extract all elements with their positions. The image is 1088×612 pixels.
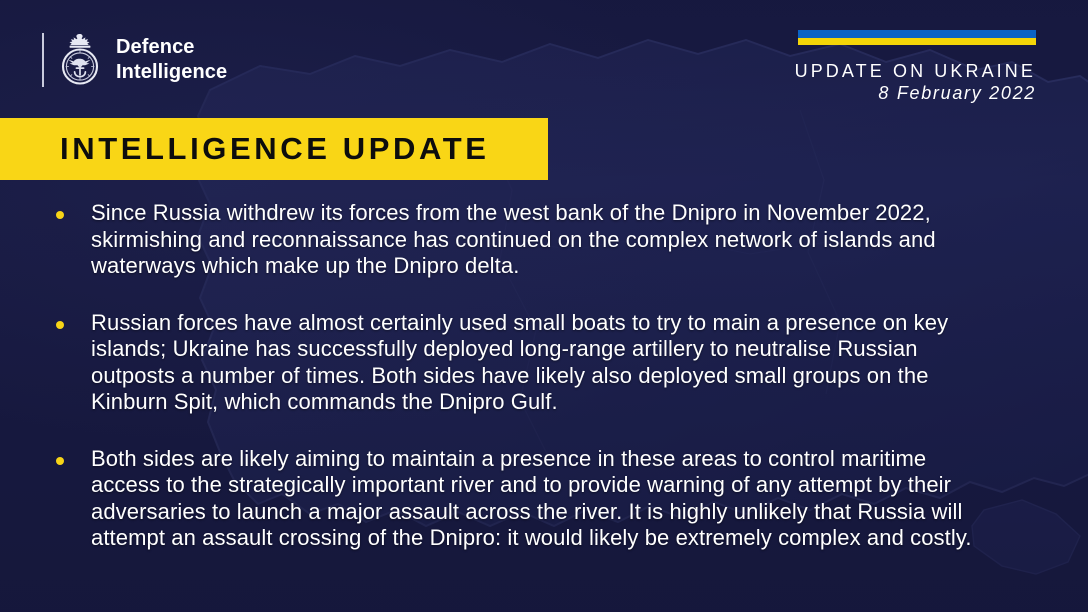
- bullet-dot-icon: [56, 321, 64, 329]
- bullet-text: Russian forces have almost certainly use…: [91, 310, 976, 416]
- logo-divider: [42, 33, 44, 87]
- brand-line-2: Intelligence: [116, 60, 227, 85]
- bullet-text: Since Russia withdrew its forces from th…: [91, 200, 976, 280]
- list-item: Since Russia withdrew its forces from th…: [56, 200, 976, 280]
- bullet-list: Since Russia withdrew its forces from th…: [56, 200, 976, 552]
- defence-intelligence-logo: Defence Intelligence: [42, 30, 227, 90]
- intelligence-update-banner: INTELLIGENCE UPDATE: [0, 118, 548, 180]
- brand-wordmark: Defence Intelligence: [116, 35, 227, 85]
- list-item: Russian forces have almost certainly use…: [56, 310, 976, 416]
- update-title: UPDATE ON UKRAINE: [736, 60, 1036, 82]
- bullet-dot-icon: [56, 457, 64, 465]
- header-update-block: UPDATE ON UKRAINE 8 February 2022: [736, 30, 1036, 105]
- bullet-dot-icon: [56, 211, 64, 219]
- flag-yellow-stripe: [798, 38, 1036, 45]
- royal-crest-icon: [57, 32, 103, 88]
- list-item: Both sides are likely aiming to maintain…: [56, 446, 976, 552]
- brand-line-1: Defence: [116, 35, 227, 60]
- bullet-text: Both sides are likely aiming to maintain…: [91, 446, 976, 552]
- intelligence-update-slide: Defence Intelligence UPDATE ON UKRAINE 8…: [0, 0, 1088, 612]
- slide-header: Defence Intelligence UPDATE ON UKRAINE 8…: [0, 0, 1088, 118]
- flag-blue-stripe: [798, 30, 1036, 38]
- ukraine-flag-bar: [798, 30, 1036, 45]
- update-date: 8 February 2022: [736, 82, 1036, 105]
- banner-label: INTELLIGENCE UPDATE: [0, 131, 490, 167]
